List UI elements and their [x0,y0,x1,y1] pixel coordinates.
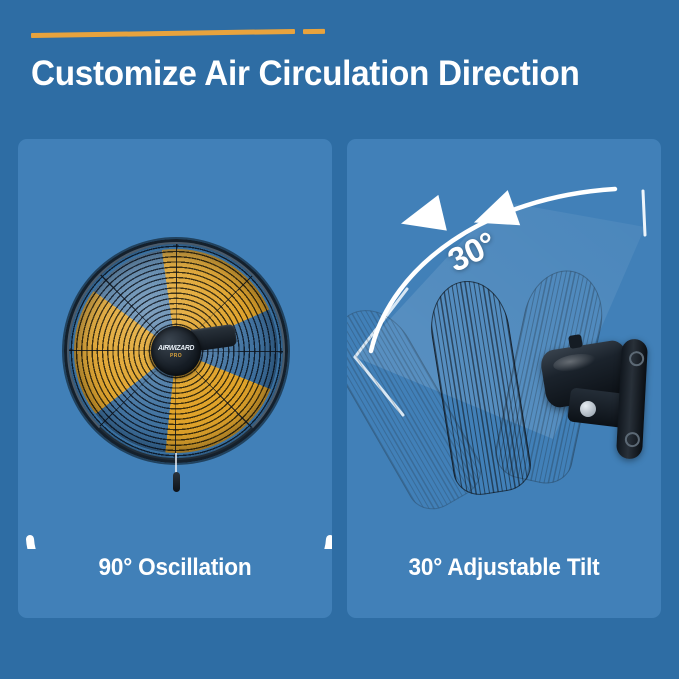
oscillation-arrow-left-icon [26,531,146,549]
panel-tilt: 30° 30° Adjustable Tilt [347,139,661,618]
page-title: Customize Air Circulation Direction [31,52,620,96]
oscillation-illustration: AIRWIZARD PRO 90° [18,139,332,549]
infographic-page: Customize Air Circulation Direction AIRW… [0,0,679,679]
tilt-angle-label: 30° [442,224,502,279]
oscillation-arrow-right-icon [214,531,332,549]
pull-chain-weight [173,472,180,492]
caption-tilt: 30° Adjustable Tilt [356,554,651,582]
fan-front-view: AIRWIZARD PRO [64,239,288,463]
tilt-illustration: 30° [347,139,661,549]
motor-knob [568,334,583,349]
wall-mount-plate [616,338,648,459]
fan-hub-logo: AIRWIZARD PRO [151,326,201,376]
caption-oscillation: 90° Oscillation [27,554,322,582]
panel-oscillation: AIRWIZARD PRO 90° 90° Oscillation [18,139,332,618]
brand-sub: PRO [170,353,182,359]
accent-rule [31,27,331,39]
brand-name: AIRWIZARD [158,343,194,352]
accent-bar-short [303,29,325,34]
mount-pivot-screw [580,401,596,417]
accent-bar-long [31,29,295,38]
